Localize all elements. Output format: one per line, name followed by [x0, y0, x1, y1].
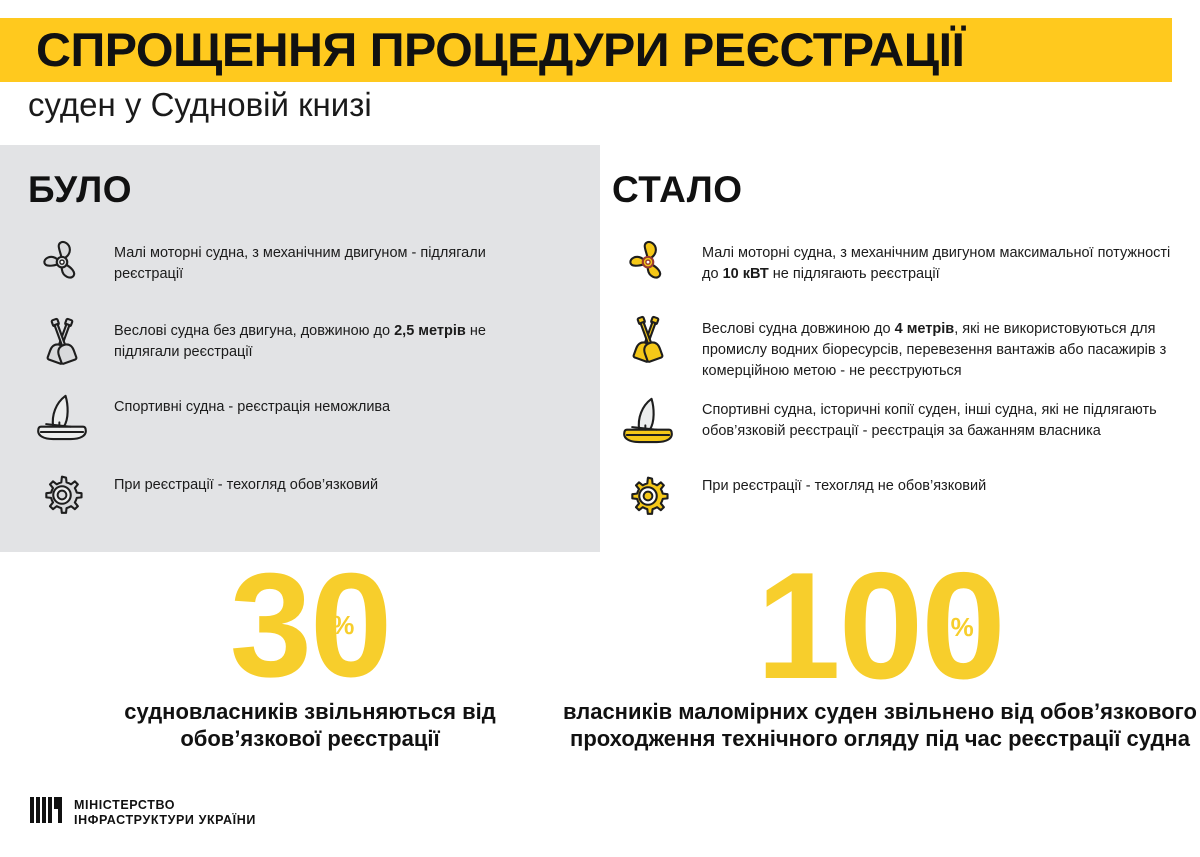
stat-block: 30 % судновласників звільняються від обо…	[60, 556, 560, 752]
list-item: Веслові судна без двигуна, довжиною до 2…	[26, 305, 600, 377]
before-item-list: Малі моторні судна, з механічним двигуно…	[0, 227, 600, 531]
list-item-text: Веслові судна без двигуна, довжиною до 2…	[114, 305, 514, 363]
list-item-text: Спортивні судна, історичні копії суден, …	[702, 384, 1184, 442]
page-title: СПРОЩЕННЯ ПРОЦЕДУРИ РЕЄСТРАЦІЇ	[36, 21, 1200, 79]
statistics-section: 30 % судновласників звільняються від обо…	[0, 556, 1200, 786]
list-item: Спортивні судна, історичні копії суден, …	[612, 384, 1200, 456]
ministry-logo-line-1: Міністерство	[74, 798, 256, 813]
ministry-logo: Міністерство інфраструктури України	[30, 795, 256, 830]
list-item-text: Малі моторні судна, з механічним двигуно…	[702, 227, 1184, 285]
list-item-text: Веслові судна довжиною до 4 метрів, які …	[702, 303, 1184, 382]
sailboat-icon	[26, 381, 98, 453]
list-item: При реєстрації - техогляд не обов’язкови…	[612, 460, 1200, 532]
list-item: Веслові судна довжиною до 4 метрів, які …	[612, 303, 1200, 382]
ministry-logo-line-2: інфраструктури України	[74, 813, 256, 828]
list-item-text: Спортивні судна - реєстрація неможлива	[114, 381, 514, 418]
list-item-text: При реєстрації - техогляд не обов’язкови…	[702, 460, 1184, 497]
list-item: Малі моторні судна, з механічним двигуно…	[26, 227, 600, 299]
ministry-logo-text: Міністерство інфраструктури України	[74, 798, 256, 828]
after-item-list: Малі моторні судна, з механічним двигуно…	[600, 227, 1200, 532]
crossed-oars-icon	[612, 303, 684, 375]
infographic-page: СПРОЩЕННЯ ПРОЦЕДУРИ РЕЄСТРАЦІЇ суден у С…	[0, 0, 1200, 857]
crossed-oars-icon	[26, 305, 98, 377]
list-item-text: Малі моторні судна, з механічним двигуно…	[114, 227, 514, 285]
page-subtitle: суден у Судновій книзі	[28, 86, 372, 124]
column-after-heading: СТАЛО	[612, 169, 742, 211]
propeller-icon	[26, 227, 98, 299]
column-after: СТАЛО Малі моторні судна, з механічним д…	[600, 145, 1200, 552]
column-before: БУЛО Малі моторні судна, з механічним дв…	[0, 145, 600, 552]
gear-icon	[612, 460, 684, 532]
percent-symbol: %	[331, 612, 352, 638]
stat-block: 100 % власників маломірних суден звільне…	[560, 556, 1200, 752]
list-item: Спортивні судна - реєстрація неможлива	[26, 381, 600, 453]
list-item: Малі моторні судна, з механічним двигуно…	[612, 227, 1200, 299]
ministry-bars-icon	[30, 795, 64, 830]
stat-number: 30 %	[230, 556, 391, 696]
propeller-icon	[612, 227, 684, 299]
list-item: При реєстрації - техогляд обов’язковий	[26, 459, 600, 531]
stat-number-value: 30	[230, 543, 391, 708]
list-item-text: При реєстрації - техогляд обов’язковий	[114, 459, 514, 496]
gear-icon	[26, 459, 98, 531]
percent-symbol: %	[951, 614, 972, 640]
stat-number: 100 %	[756, 556, 1004, 696]
column-before-heading: БУЛО	[28, 169, 132, 211]
sailboat-icon	[612, 384, 684, 456]
